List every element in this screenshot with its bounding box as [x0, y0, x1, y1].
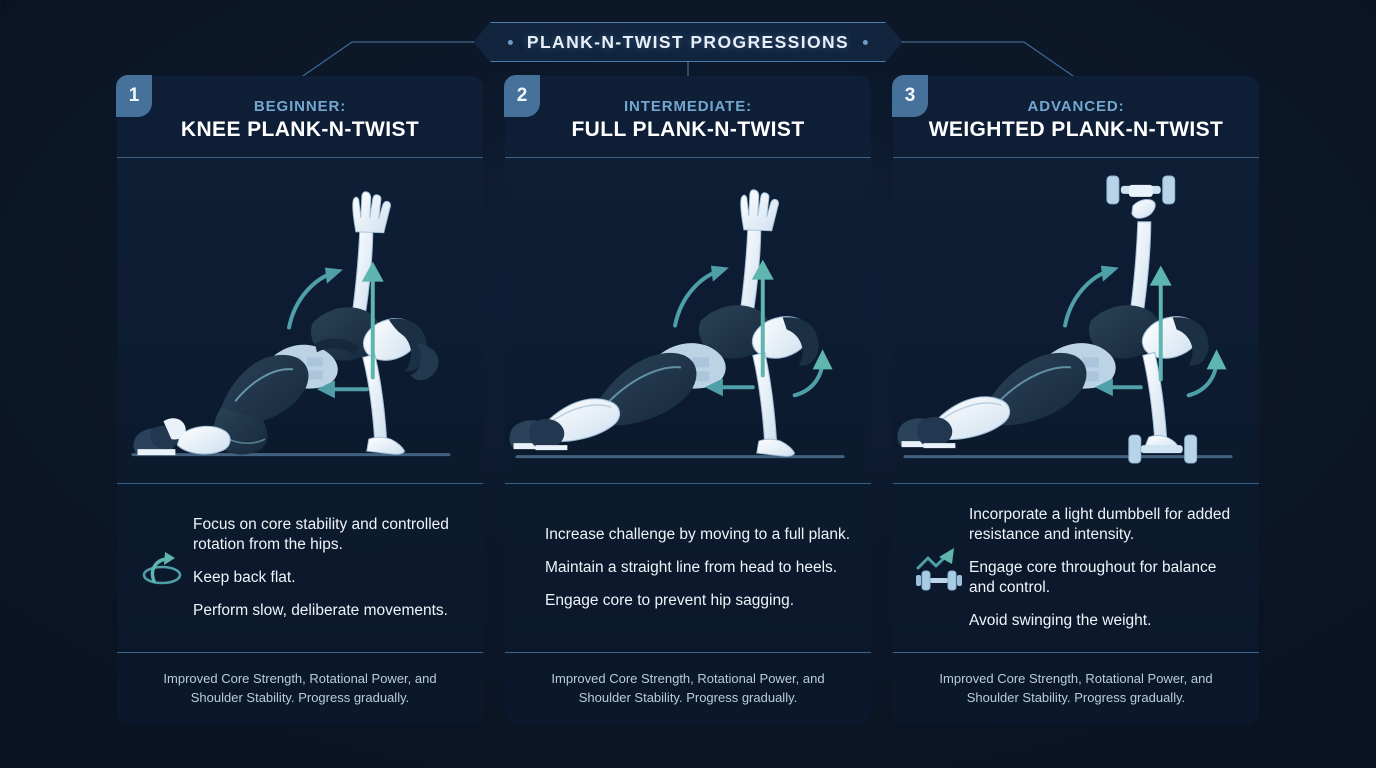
rotation-arrow-icon — [131, 543, 193, 593]
tip-list-2: Increase challenge by moving to a full p… — [545, 525, 855, 610]
title-banner: PLANK-N-TWIST PROGRESSIONS — [473, 22, 903, 62]
card-footer-1: Improved Core Strength, Rotational Power… — [117, 652, 483, 724]
tip-item: Engage core throughout for balance and c… — [969, 558, 1243, 598]
dumbbell-top-icon — [1107, 176, 1175, 204]
card-header-3: ADVANCED: WEIGHTED PLANK-N-TWIST — [893, 76, 1259, 158]
card-level-3: ADVANCED: — [1028, 98, 1125, 115]
card-title-2: FULL PLANK-N-TWIST — [571, 118, 804, 142]
tips-section-3: Incorporate a light dumbbell for added r… — [893, 484, 1259, 652]
progression-card-2[interactable]: 2 INTERMEDIATE: FULL PLANK-N-TWIST — [505, 76, 871, 724]
illustration-weighted-plank-n-twist — [893, 158, 1259, 484]
tip-item: Avoid swinging the weight. — [969, 611, 1243, 631]
tip-item: Focus on core stability and controlled r… — [193, 515, 467, 555]
tip-item: Incorporate a light dumbbell for added r… — [969, 505, 1243, 545]
banner-dot-left-icon — [508, 40, 513, 45]
tip-item: Perform slow, deliberate movements. — [193, 601, 467, 621]
progression-card-3[interactable]: 3 ADVANCED: WEIGHTED PLANK-N-TWIST — [893, 76, 1259, 724]
tips-section-1: Focus on core stability and controlled r… — [117, 484, 483, 652]
footer-text: Improved Core Strength, Rotational Power… — [139, 670, 461, 707]
card-title-3: WEIGHTED PLANK-N-TWIST — [929, 118, 1224, 142]
card-footer-2: Improved Core Strength, Rotational Power… — [505, 652, 871, 724]
page-title: PLANK-N-TWIST PROGRESSIONS — [527, 32, 849, 53]
tip-list-3: Incorporate a light dumbbell for added r… — [969, 505, 1243, 630]
card-title-1: KNEE PLANK-N-TWIST — [181, 118, 419, 142]
footer-text: Improved Core Strength, Rotational Power… — [915, 670, 1237, 707]
banner-dot-right-icon — [863, 40, 868, 45]
tip-item: Keep back flat. — [193, 568, 467, 588]
tips-section-2: Increase challenge by moving to a full p… — [505, 484, 871, 652]
dumbbell-trend-icon — [907, 540, 969, 596]
tip-item: Increase challenge by moving to a full p… — [545, 525, 855, 545]
tip-item: Engage core to prevent hip sagging. — [545, 591, 855, 611]
card-header-2: INTERMEDIATE: FULL PLANK-N-TWIST — [505, 76, 871, 158]
card-header-1: BEGINNER: KNEE PLANK-N-TWIST — [117, 76, 483, 158]
tip-item: Maintain a straight line from head to he… — [545, 558, 855, 578]
footer-text: Improved Core Strength, Rotational Power… — [527, 670, 849, 707]
step-badge-3: 3 — [892, 75, 928, 117]
step-badge-2: 2 — [504, 75, 540, 117]
card-level-1: BEGINNER: — [254, 98, 346, 115]
progression-cards: 1 BEGINNER: KNEE PLANK-N-TWIST — [0, 76, 1376, 724]
illustration-knee-plank-n-twist — [117, 158, 483, 484]
tip-list-1: Focus on core stability and controlled r… — [193, 515, 467, 620]
step-badge-1: 1 — [116, 75, 152, 117]
title-banner-wrap: PLANK-N-TWIST PROGRESSIONS — [0, 22, 1376, 64]
card-level-2: INTERMEDIATE: — [624, 98, 752, 115]
card-footer-3: Improved Core Strength, Rotational Power… — [893, 652, 1259, 724]
progression-card-1[interactable]: 1 BEGINNER: KNEE PLANK-N-TWIST — [117, 76, 483, 724]
infographic-canvas: PLANK-N-TWIST PROGRESSIONS 1 BEGINNER: K… — [0, 0, 1376, 768]
illustration-full-plank-n-twist — [505, 158, 871, 484]
